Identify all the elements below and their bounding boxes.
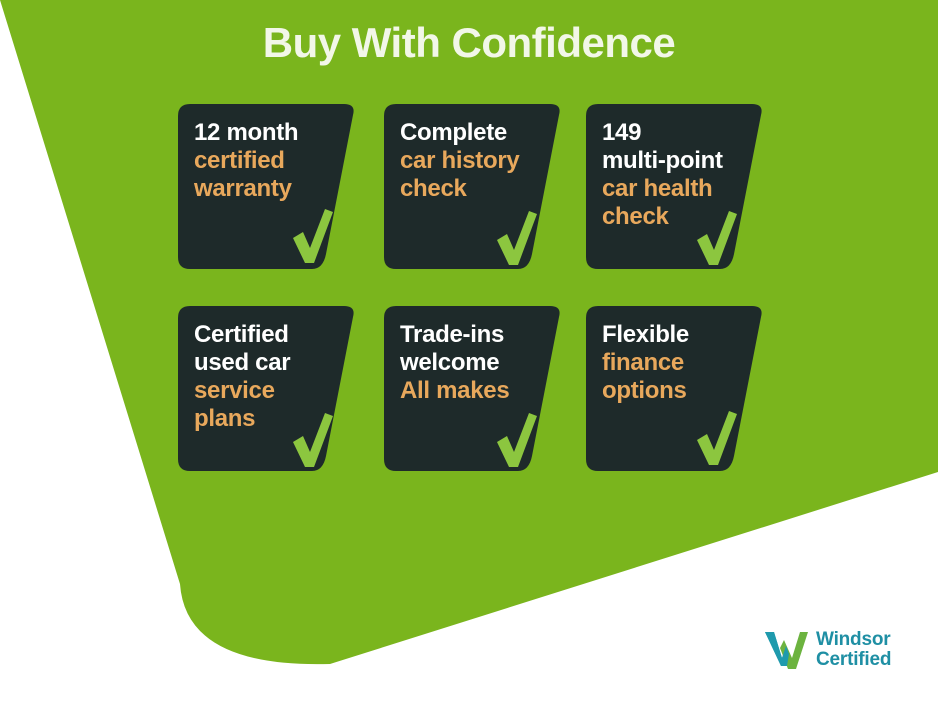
page-title: Buy With Confidence xyxy=(0,19,938,67)
card-text: Complete car history check xyxy=(400,119,550,203)
card-line: certified xyxy=(194,147,344,175)
buy-with-confidence-banner: Buy With Confidence 12 month certified w… xyxy=(0,0,938,704)
feature-card: Complete car history check xyxy=(384,104,562,269)
card-line: Flexible xyxy=(602,321,752,349)
card-line: 149 xyxy=(602,119,752,147)
card-text: 12 month certified warranty xyxy=(194,119,344,203)
card-line: used car xyxy=(194,349,344,377)
card-line: finance xyxy=(602,349,752,377)
feature-card: 149 multi-point car health check xyxy=(586,104,764,269)
card-line: car history xyxy=(400,147,550,175)
card-text: Flexible finance options xyxy=(602,321,752,405)
card-line: multi-point xyxy=(602,147,752,175)
check-mark-icon xyxy=(494,412,538,468)
logo-line-1: Windsor xyxy=(816,630,891,650)
card-line: options xyxy=(602,377,752,405)
feature-card: 12 month certified warranty xyxy=(178,104,356,269)
brand-logo: Windsor Certified xyxy=(763,628,891,672)
card-line: welcome xyxy=(400,349,550,377)
logo-wordmark: Windsor Certified xyxy=(816,630,891,670)
card-line: 12 month xyxy=(194,119,344,147)
logo-line-2: Certified xyxy=(816,650,891,670)
card-line: Trade-ins xyxy=(400,321,550,349)
card-line: Complete xyxy=(400,119,550,147)
windsor-w-icon xyxy=(763,628,809,672)
feature-card: Flexible finance options xyxy=(586,306,764,471)
card-line: service xyxy=(194,377,344,405)
feature-card: Certified used car service plans xyxy=(178,306,356,471)
card-line: check xyxy=(400,175,550,203)
card-line: warranty xyxy=(194,175,344,203)
check-mark-icon xyxy=(694,210,738,266)
card-text: Trade-ins welcome All makes xyxy=(400,321,550,405)
card-line: car health xyxy=(602,175,752,203)
check-mark-icon xyxy=(694,410,738,466)
check-mark-icon xyxy=(494,210,538,266)
check-mark-icon xyxy=(290,208,334,264)
feature-card: Trade-ins welcome All makes xyxy=(384,306,562,471)
card-line: Certified xyxy=(194,321,344,349)
card-line: All makes xyxy=(400,377,550,405)
check-mark-icon xyxy=(290,412,334,468)
